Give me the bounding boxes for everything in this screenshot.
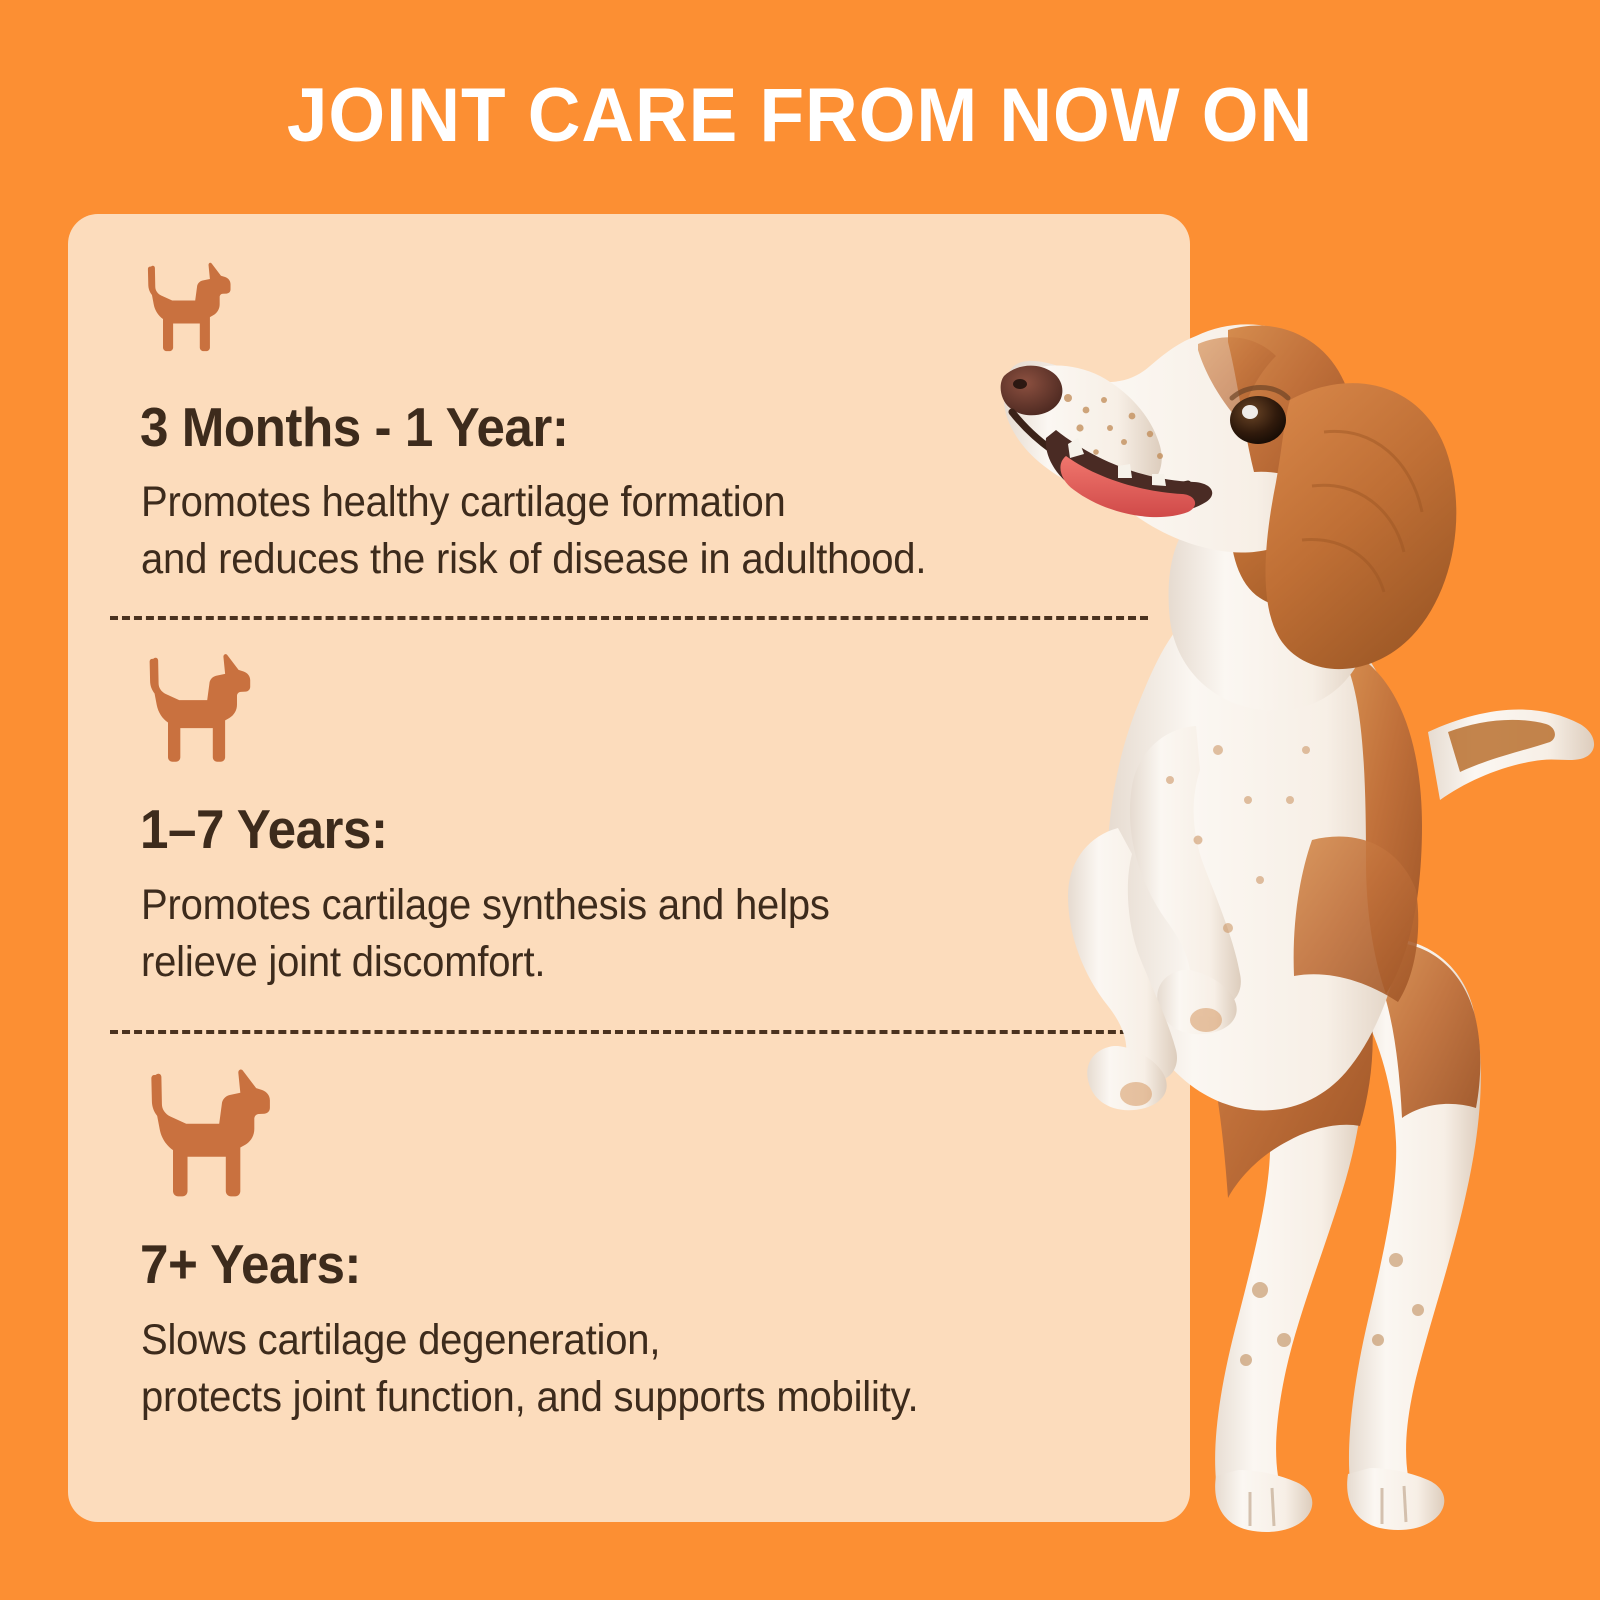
age-section-1-heading: 3 Months - 1 Year: xyxy=(140,399,568,457)
age-section-2-body: Promotes cartilage synthesis and helps r… xyxy=(141,877,1183,991)
page-title: JOINT CARE FROM NOW ON xyxy=(32,78,1568,154)
section-divider-1 xyxy=(110,616,1148,620)
section-divider-2 xyxy=(110,1030,1164,1034)
dog-silhouette-icon xyxy=(140,649,252,767)
age-section-3-heading: 7+ Years: xyxy=(140,1236,361,1294)
dog-silhouette-icon xyxy=(140,259,232,355)
info-card: 3 Months - 1 Year: Promotes healthy cart… xyxy=(68,214,1190,1522)
age-section-3-body: Slows cartilage degeneration, protects j… xyxy=(141,1312,1183,1426)
dog-silhouette-icon xyxy=(140,1064,272,1202)
age-section-1-body: Promotes healthy cartilage formation and… xyxy=(141,474,1183,588)
age-section-2-heading: 1–7 Years: xyxy=(140,801,388,859)
promo-poster: JOINT CARE FROM NOW ON 3 Months - 1 Year… xyxy=(0,0,1600,1600)
